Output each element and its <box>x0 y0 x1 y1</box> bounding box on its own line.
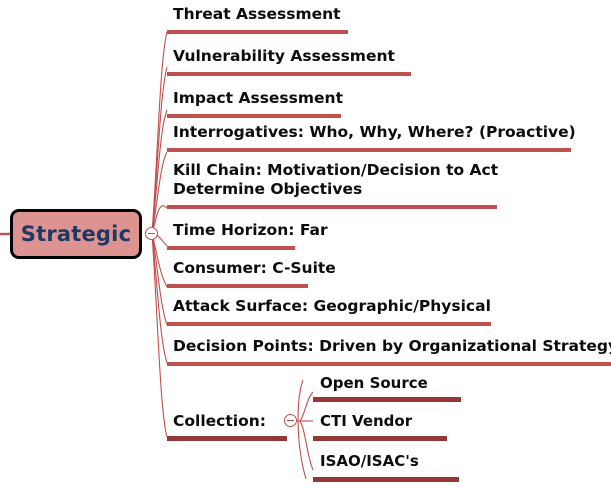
branch-topic-decision-points[interactable]: Decision Points: Driven by Organizationa… <box>173 337 611 356</box>
branch-underline-kill-chain <box>167 205 497 209</box>
subbranch-topic-cti-vendor[interactable]: CTI Vendor <box>320 412 412 431</box>
branch-topic-collection[interactable]: Collection: <box>173 412 266 431</box>
branch-underline-interrogatives <box>167 148 571 152</box>
collapse-minus-icon-collection[interactable] <box>284 414 297 427</box>
branch-underline-attack-surface <box>167 322 491 326</box>
branch-underline-decision-points <box>167 362 611 366</box>
branch-topic-vulnerability-assessment[interactable]: Vulnerability Assessment <box>173 47 395 66</box>
branch-topic-threat-assessment[interactable]: Threat Assessment <box>173 5 341 24</box>
branch-topic-kill-chain[interactable]: Kill Chain: Motivation/Decision to Act D… <box>173 161 498 199</box>
root-node[interactable]: Strategic <box>10 209 142 259</box>
branch-topic-interrogatives[interactable]: Interrogatives: Who, Why, Where? (Proact… <box>173 123 576 142</box>
subbranch-topic-open-source[interactable]: Open Source <box>320 374 428 393</box>
subbranch-underline-open-source <box>313 397 461 402</box>
branch-topic-time-horizon[interactable]: Time Horizon: Far <box>173 221 328 240</box>
subbranch-underline-cti-vendor <box>313 436 447 441</box>
branch-topic-consumer[interactable]: Consumer: C-Suite <box>173 259 336 278</box>
branch-underline-impact-assessment <box>167 114 341 118</box>
branch-topic-attack-surface[interactable]: Attack Surface: Geographic/Physical <box>173 297 491 316</box>
mind-map-canvas: Strategic Threat Assessment Vulnerabilit… <box>0 0 611 489</box>
subbranch-topic-isao-isacs[interactable]: ISAO/ISAC's <box>320 452 419 471</box>
root-node-label: Strategic <box>21 222 131 246</box>
branch-underline-consumer <box>167 284 308 288</box>
collapse-minus-icon-root[interactable] <box>145 227 158 240</box>
branch-topic-impact-assessment[interactable]: Impact Assessment <box>173 89 343 108</box>
subbranch-underline-isao-isacs <box>313 477 459 482</box>
branch-underline-vulnerability-assessment <box>167 72 411 76</box>
branch-underline-time-horizon <box>167 246 295 250</box>
branch-underline-threat-assessment <box>167 30 348 34</box>
branch-underline-collection <box>167 436 287 441</box>
